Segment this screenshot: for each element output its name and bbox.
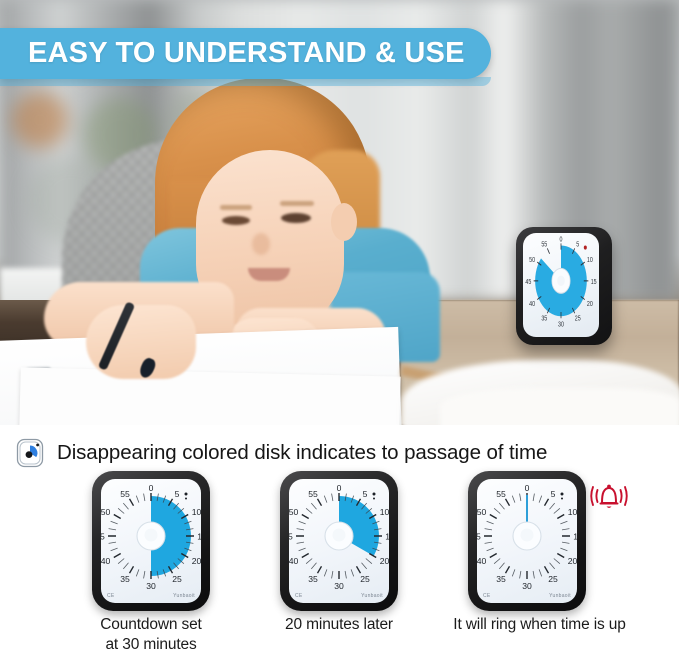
svg-text:45: 45 bbox=[477, 532, 481, 542]
svg-text:50: 50 bbox=[289, 507, 298, 517]
child-ear bbox=[331, 203, 357, 241]
open-book-pages bbox=[440, 388, 679, 425]
svg-text:45: 45 bbox=[289, 532, 293, 542]
scene-visual-timer: 05 1015 2025 3035 4045 5055 bbox=[516, 227, 612, 345]
ringing-bell-icon bbox=[586, 477, 632, 515]
timer-face: 05 1015 2025 3035 4045 5055 bbox=[477, 479, 577, 603]
timer-face: 05 1015 2025 3035 4045 5055 bbox=[289, 479, 389, 603]
caption-timer-finished: It will ring when time is up bbox=[432, 615, 647, 635]
svg-text:40: 40 bbox=[289, 556, 298, 566]
svg-text:55: 55 bbox=[120, 489, 130, 499]
timer-dial-30: 05 1015 2025 3035 4045 5055 bbox=[101, 479, 201, 603]
svg-text:5: 5 bbox=[551, 489, 556, 499]
child-eyebrow-right bbox=[280, 201, 314, 206]
svg-text:25: 25 bbox=[360, 574, 370, 584]
svg-text:40: 40 bbox=[529, 300, 535, 308]
svg-text:10: 10 bbox=[587, 256, 593, 264]
svg-text:0: 0 bbox=[337, 483, 342, 493]
svg-text:20: 20 bbox=[192, 556, 201, 566]
subheading-row: Disappearing colored disk indicates to p… bbox=[0, 433, 679, 473]
svg-text:45: 45 bbox=[101, 532, 105, 542]
child-eye-right bbox=[281, 213, 311, 223]
svg-text:35: 35 bbox=[496, 574, 506, 584]
product-feature-page: 05 1015 2025 3035 4045 5055 bbox=[0, 0, 679, 655]
caption-line-1: Countdown set bbox=[81, 615, 221, 635]
scene-timer-face: 05 1015 2025 3035 4045 5055 bbox=[523, 233, 599, 337]
svg-text:55: 55 bbox=[541, 241, 547, 249]
svg-text:10: 10 bbox=[380, 507, 389, 517]
svg-text:35: 35 bbox=[308, 574, 318, 584]
timer-face: 05 1015 2025 3035 4045 5055 bbox=[101, 479, 201, 603]
svg-text:5: 5 bbox=[363, 489, 368, 499]
child-eyebrow-left bbox=[220, 205, 252, 210]
svg-text:5: 5 bbox=[576, 241, 579, 249]
svg-text:30: 30 bbox=[146, 581, 156, 591]
svg-text:25: 25 bbox=[548, 574, 558, 584]
scene-timer-dial: 05 1015 2025 3035 4045 5055 bbox=[523, 233, 599, 337]
caption-line-1: It will ring when time is up bbox=[432, 615, 647, 635]
svg-text:50: 50 bbox=[529, 256, 535, 264]
child-nose bbox=[252, 233, 270, 255]
svg-text:55: 55 bbox=[496, 489, 506, 499]
svg-text:30: 30 bbox=[522, 581, 532, 591]
headline-banner: EASY TO UNDERSTAND & USE bbox=[0, 28, 491, 79]
caption-timer-10: 20 minutes later bbox=[269, 615, 409, 635]
svg-text:5: 5 bbox=[175, 489, 180, 499]
timer-disk-icon bbox=[15, 436, 45, 470]
svg-text:15: 15 bbox=[197, 532, 201, 542]
timer-captions: Countdown set at 30 minutes 20 minutes l… bbox=[0, 615, 679, 655]
svg-text:15: 15 bbox=[573, 532, 577, 542]
caption-line-1: 20 minutes later bbox=[269, 615, 409, 635]
timer-card-30-minutes: 05 1015 2025 3035 4045 5055 bbox=[92, 471, 210, 611]
svg-text:15: 15 bbox=[385, 532, 389, 542]
svg-text:45: 45 bbox=[525, 278, 531, 286]
lifestyle-photo: 05 1015 2025 3035 4045 5055 bbox=[0, 0, 679, 425]
caption-line-2: at 30 minutes bbox=[81, 635, 221, 655]
svg-text:20: 20 bbox=[587, 300, 593, 308]
svg-text:20: 20 bbox=[568, 556, 577, 566]
svg-text:50: 50 bbox=[477, 507, 486, 517]
timer-dial-finished: 05 1015 2025 3035 4045 5055 bbox=[477, 479, 577, 603]
svg-text:25: 25 bbox=[172, 574, 182, 584]
timer-dial-10: 05 1015 2025 3035 4045 5055 bbox=[289, 479, 389, 603]
timer-sequence: 05 1015 2025 3035 4045 5055 bbox=[0, 471, 679, 611]
svg-text:30: 30 bbox=[334, 581, 344, 591]
svg-text:35: 35 bbox=[120, 574, 130, 584]
svg-text:40: 40 bbox=[477, 556, 486, 566]
svg-text:35: 35 bbox=[541, 315, 547, 323]
feature-explainer-section: Disappearing colored disk indicates to p… bbox=[0, 425, 679, 655]
timer-card-10-minutes: 05 1015 2025 3035 4045 5055 bbox=[280, 471, 398, 611]
headline-text: EASY TO UNDERSTAND & USE bbox=[28, 37, 465, 70]
svg-text:15: 15 bbox=[591, 278, 597, 286]
svg-text:0: 0 bbox=[525, 483, 530, 493]
drawing-paper-second-sheet bbox=[19, 367, 400, 425]
svg-text:40: 40 bbox=[101, 556, 110, 566]
section-heading: Disappearing colored disk indicates to p… bbox=[57, 441, 547, 465]
svg-text:25: 25 bbox=[575, 315, 581, 323]
svg-text:10: 10 bbox=[192, 507, 201, 517]
svg-text:55: 55 bbox=[308, 489, 318, 499]
child-eye-left bbox=[222, 216, 250, 225]
svg-text:50: 50 bbox=[101, 507, 110, 517]
svg-text:30: 30 bbox=[558, 321, 564, 329]
caption-timer-30: Countdown set at 30 minutes bbox=[81, 615, 221, 655]
svg-text:0: 0 bbox=[149, 483, 154, 493]
child-mouth bbox=[248, 268, 290, 281]
timer-card-finished: 05 1015 2025 3035 4045 5055 bbox=[468, 471, 586, 611]
svg-text:0: 0 bbox=[560, 236, 563, 244]
svg-text:10: 10 bbox=[568, 507, 577, 517]
svg-text:20: 20 bbox=[380, 556, 389, 566]
